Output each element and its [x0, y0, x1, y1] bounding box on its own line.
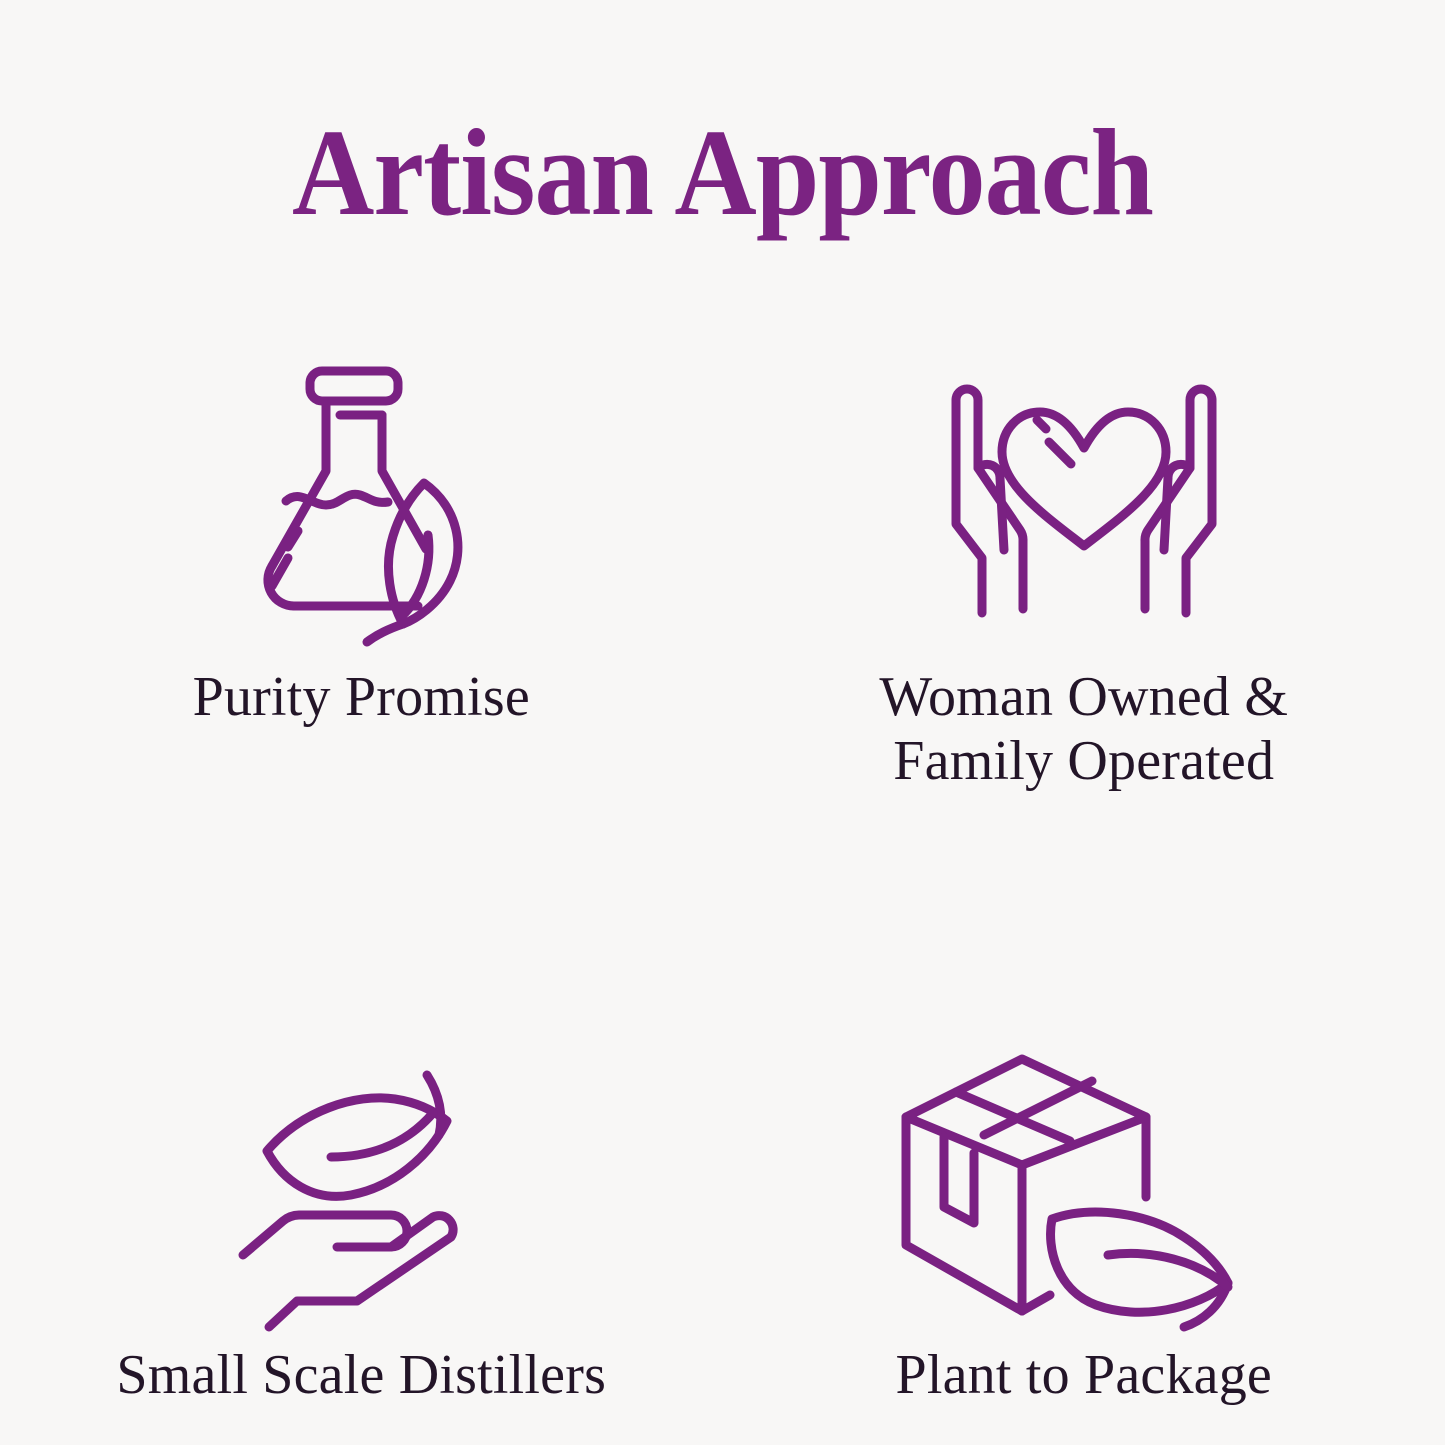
feature-label: Purity Promise — [193, 666, 530, 730]
flask-leaf-icon — [211, 348, 511, 648]
feature-item-purity-promise: Purity Promise — [0, 330, 723, 794]
feature-item-small-scale-distillers: Small Scale Distillers — [0, 794, 723, 1408]
feature-item-plant-to-package: Plant to Package — [723, 794, 1445, 1408]
feature-label: Small Scale Distillers — [116, 1344, 606, 1408]
hands-heart-icon — [894, 348, 1274, 648]
box-leaf-icon — [894, 1034, 1274, 1334]
feature-label: Woman Owned & Family Operated — [879, 666, 1288, 794]
page-title: Artisan Approach — [58, 108, 1387, 238]
feature-label: Plant to Package — [896, 1344, 1272, 1408]
artisan-approach-graphic: Artisan Approach — [0, 0, 1445, 1445]
leaf-in-hand-icon — [211, 1034, 511, 1334]
feature-item-woman-owned: Woman Owned & Family Operated — [723, 330, 1445, 794]
feature-grid: Purity Promise — [0, 330, 1445, 1340]
